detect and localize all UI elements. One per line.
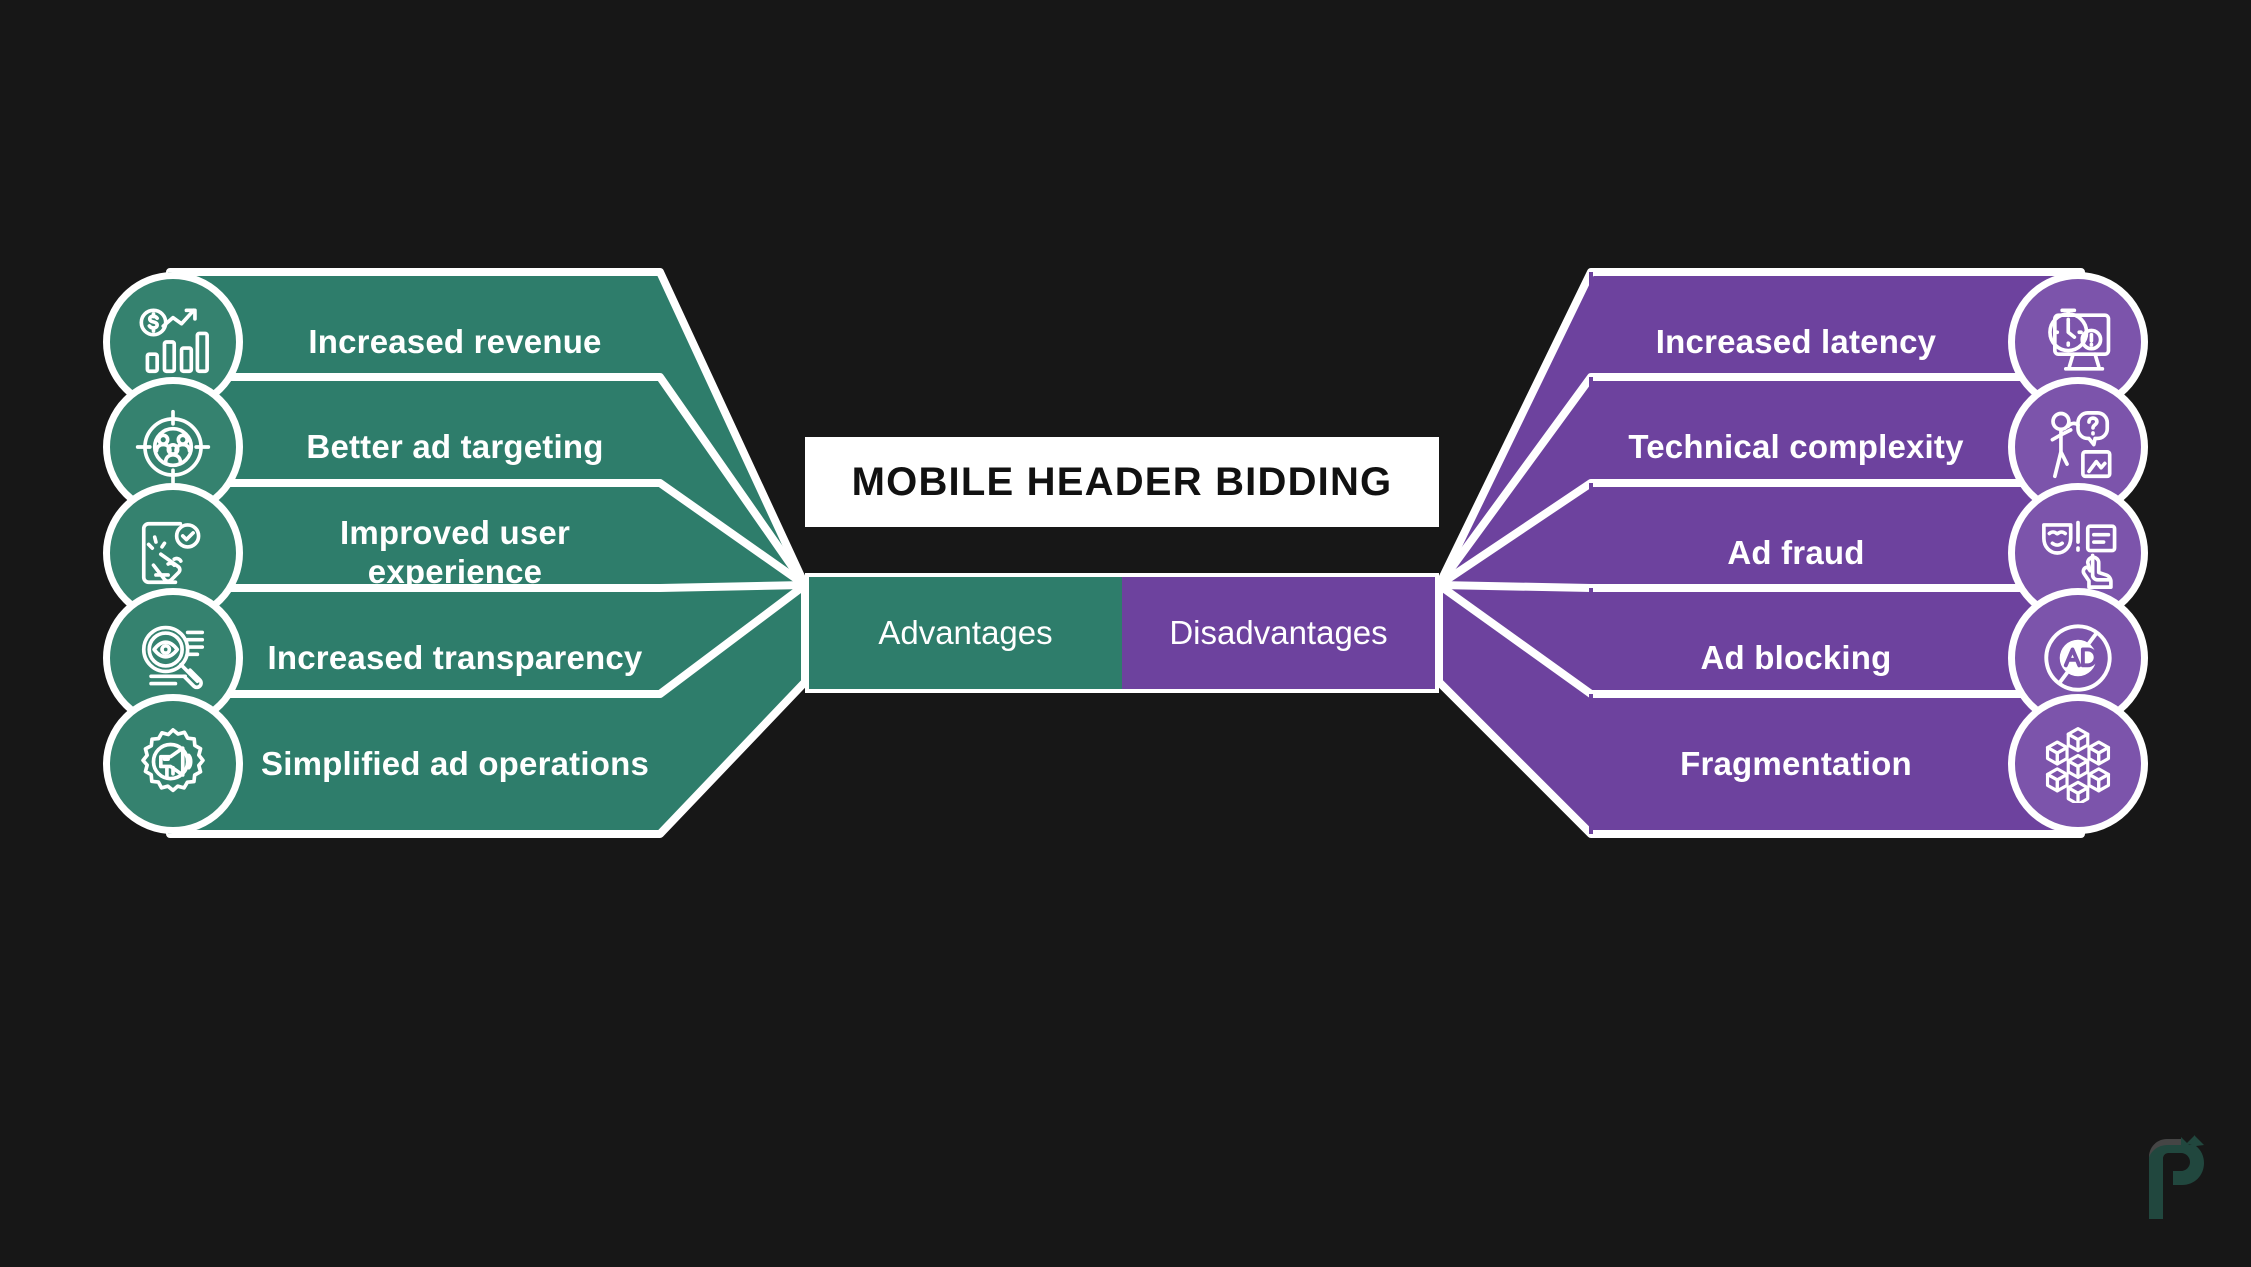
advantages-funnel bbox=[168, 272, 805, 834]
gear-megaphone-icon bbox=[134, 725, 212, 803]
arrow-cap-4 bbox=[1589, 694, 1593, 834]
person-question-icon bbox=[2039, 408, 2117, 486]
ad-blocked-icon bbox=[2039, 619, 2117, 697]
magnifier-eye-icon bbox=[134, 619, 212, 697]
legend-disadvantages[interactable]: Disadvantages bbox=[1122, 577, 1435, 689]
revenue-growth-icon bbox=[134, 303, 212, 381]
audience-target-icon bbox=[134, 408, 212, 486]
main-title-card: MOBILE HEADER BIDDING bbox=[805, 437, 1439, 527]
mobile-tap-check-icon bbox=[134, 514, 212, 592]
badge-cube-cluster-icon bbox=[2008, 694, 2148, 834]
cube-cluster-icon bbox=[2039, 725, 2117, 803]
legend-advantages[interactable]: Advantages bbox=[809, 577, 1122, 689]
infographic-canvas: Increased revenue Better ad targeting Im… bbox=[0, 0, 2251, 1267]
badge-gear-megaphone-icon bbox=[103, 694, 243, 834]
publift-p-arrow-logo bbox=[2135, 1135, 2209, 1219]
monitor-stopwatch-icon bbox=[2039, 303, 2117, 381]
page-title: MOBILE HEADER BIDDING bbox=[852, 460, 1393, 505]
legend-bar: Advantages Disadvantages bbox=[805, 573, 1439, 693]
mask-alert-icon bbox=[2039, 514, 2117, 592]
disadvantages-funnel bbox=[1439, 272, 2081, 834]
